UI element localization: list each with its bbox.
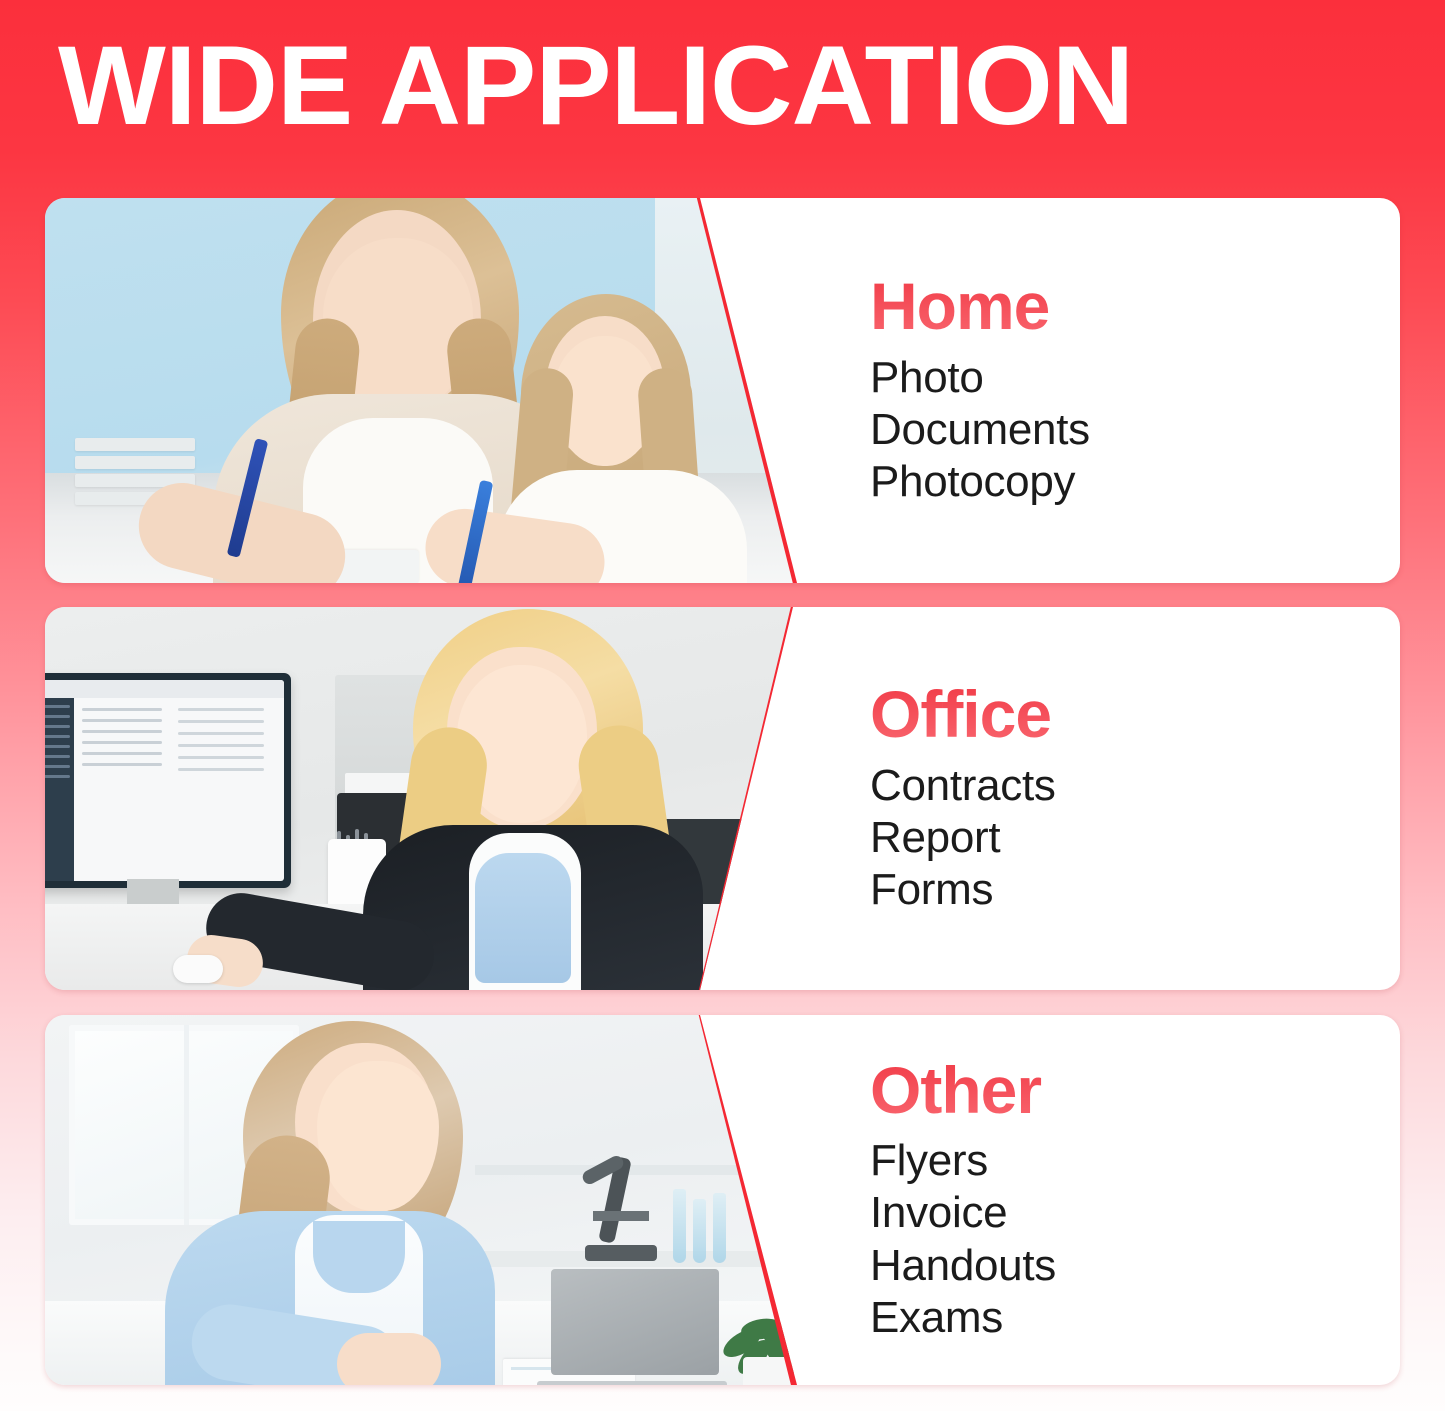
card-text-panel-office: Office Contracts Report Forms [855, 607, 1400, 990]
photo-scene-home [45, 198, 845, 583]
card-heading-home: Home [870, 272, 1400, 341]
list-item: Photocopy [870, 456, 1400, 508]
test-tubes-shape [673, 1185, 743, 1263]
photo-scene-office [45, 607, 845, 990]
application-card-other: Other Flyers Invoice Handouts Exams [45, 1015, 1400, 1385]
photo-scene-other [45, 1015, 845, 1385]
list-item: Handouts [870, 1240, 1400, 1292]
card-text-panel-home: Home Photo Documents Photocopy [855, 198, 1400, 583]
list-item: Flyers [870, 1135, 1400, 1187]
monitor-screen [45, 680, 284, 881]
laptop-shape [537, 1269, 727, 1385]
list-item: Forms [870, 864, 1400, 916]
screen-text-column [178, 708, 264, 780]
card-item-list-home: Photo Documents Photocopy [870, 352, 1400, 509]
list-item: Report [870, 812, 1400, 864]
woman-face-shape [317, 1061, 439, 1211]
application-card-home: Home Photo Documents Photocopy [45, 198, 1400, 583]
card-heading-other: Other [870, 1056, 1400, 1125]
list-item: Documents [870, 404, 1400, 456]
card-photo-other [45, 1015, 845, 1385]
list-item: Exams [870, 1292, 1400, 1344]
monitor-shape [45, 673, 291, 888]
card-photo-home [45, 198, 845, 583]
list-item: Invoice [870, 1187, 1400, 1239]
screen-toolbar [45, 680, 284, 698]
application-card-office: Office Contracts Report Forms [45, 607, 1400, 990]
woman-hands-shape [337, 1333, 441, 1385]
card-heading-office: Office [870, 680, 1400, 749]
microscope-shape [565, 1157, 669, 1261]
page-title: WIDE APPLICATION [58, 30, 1282, 142]
card-photo-office [45, 607, 845, 990]
card-item-list-other: Flyers Invoice Handouts Exams [870, 1135, 1400, 1344]
list-item: Photo [870, 352, 1400, 404]
collar-shape [313, 1221, 405, 1293]
card-text-panel-other: Other Flyers Invoice Handouts Exams [855, 1015, 1400, 1385]
infographic-stage: WIDE APPLICATION [0, 0, 1445, 1411]
neck-bow-shape [475, 853, 571, 983]
screen-text-column [82, 708, 162, 774]
mouse-shape [173, 955, 223, 983]
potted-plant-shape [717, 1299, 813, 1385]
list-item: Contracts [870, 760, 1400, 812]
card-item-list-office: Contracts Report Forms [870, 760, 1400, 917]
screen-sidebar [45, 698, 74, 881]
